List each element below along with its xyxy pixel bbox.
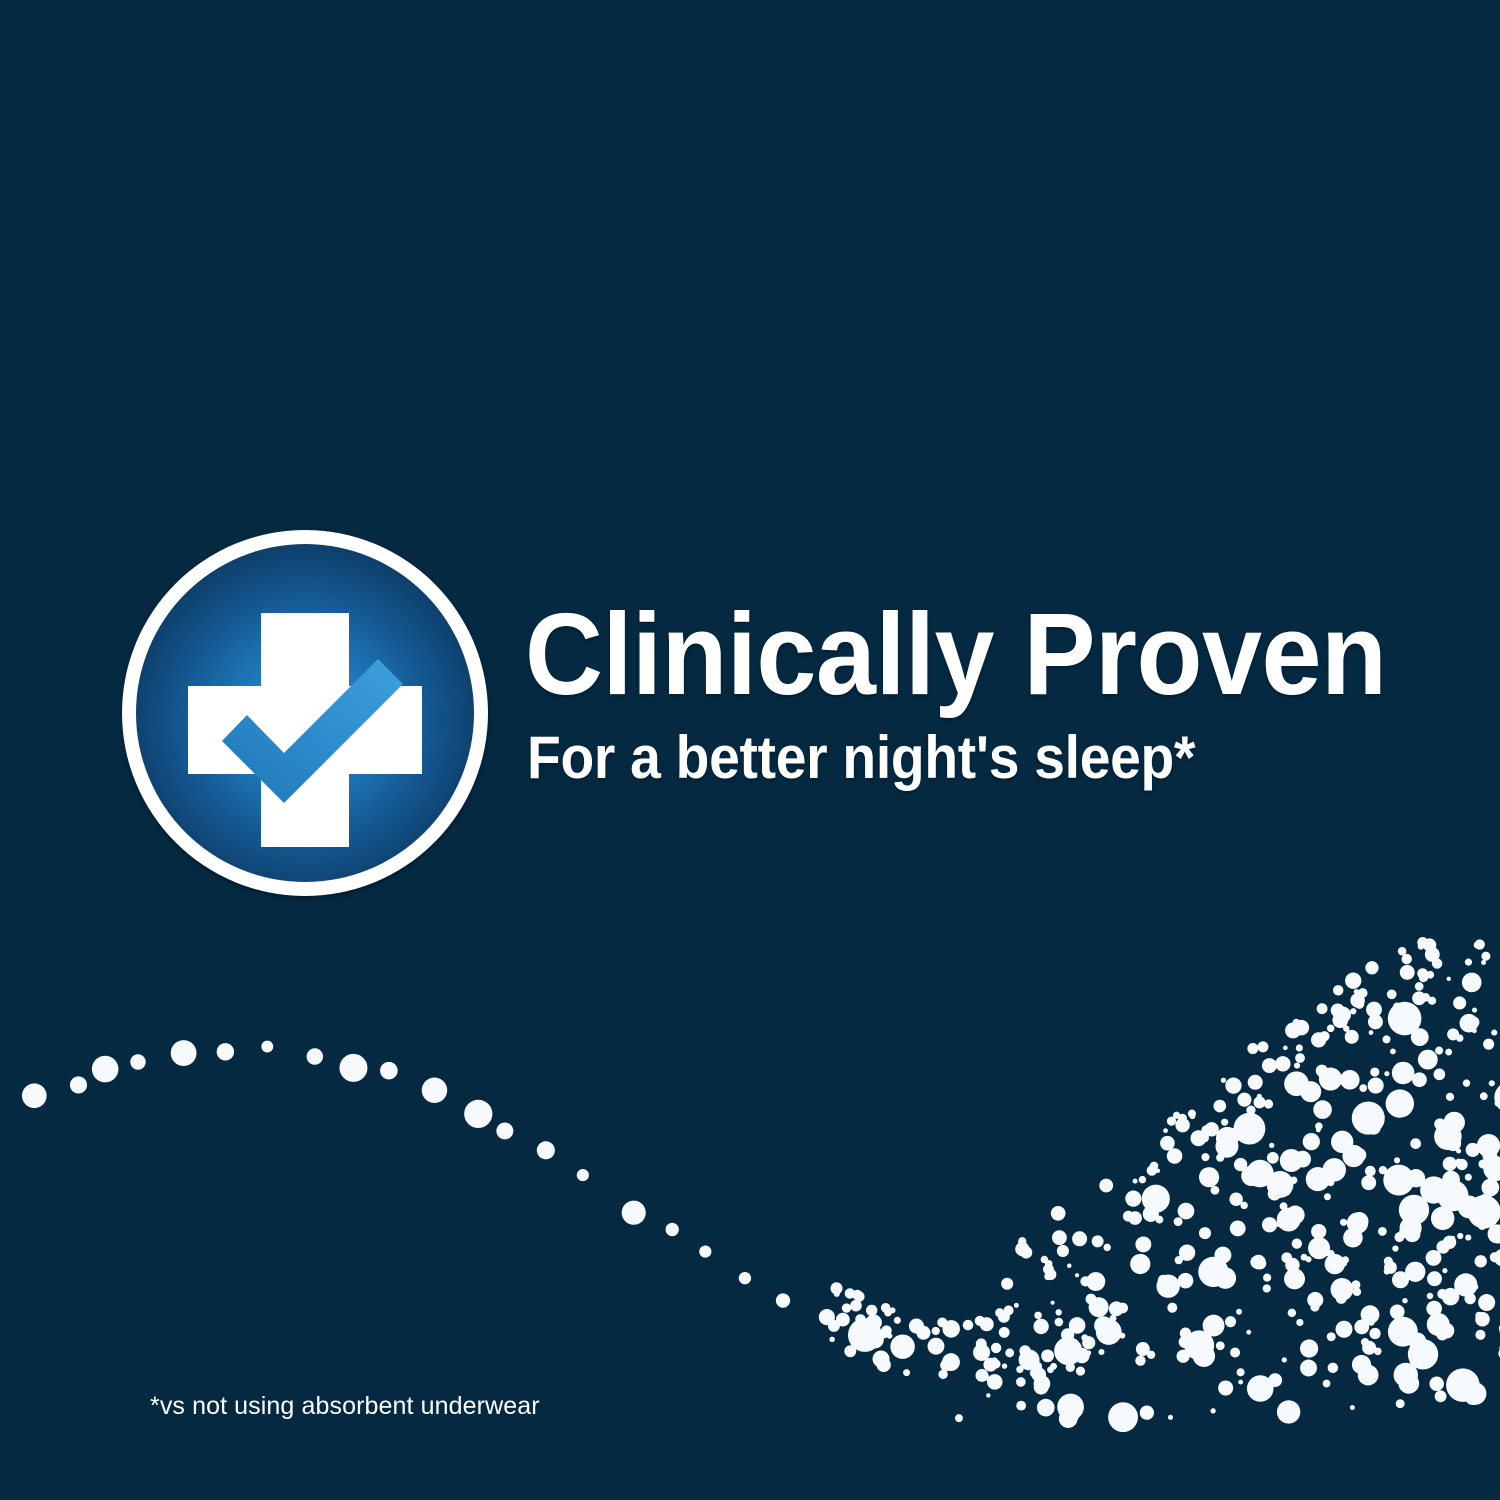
page-subtitle: For a better night's sleep* (527, 728, 1353, 788)
medical-cross-checkmark-icon (122, 530, 488, 896)
page-title: Clinically Proven (525, 596, 1362, 712)
headline-block: Clinically Proven For a better night's s… (525, 596, 1425, 788)
promo-banner: Clinically Proven For a better night's s… (0, 0, 1500, 1500)
footnote-disclaimer: *vs not using absorbent underwear (150, 1392, 540, 1421)
cross-shape (188, 613, 422, 847)
clinically-proven-badge (122, 530, 488, 896)
